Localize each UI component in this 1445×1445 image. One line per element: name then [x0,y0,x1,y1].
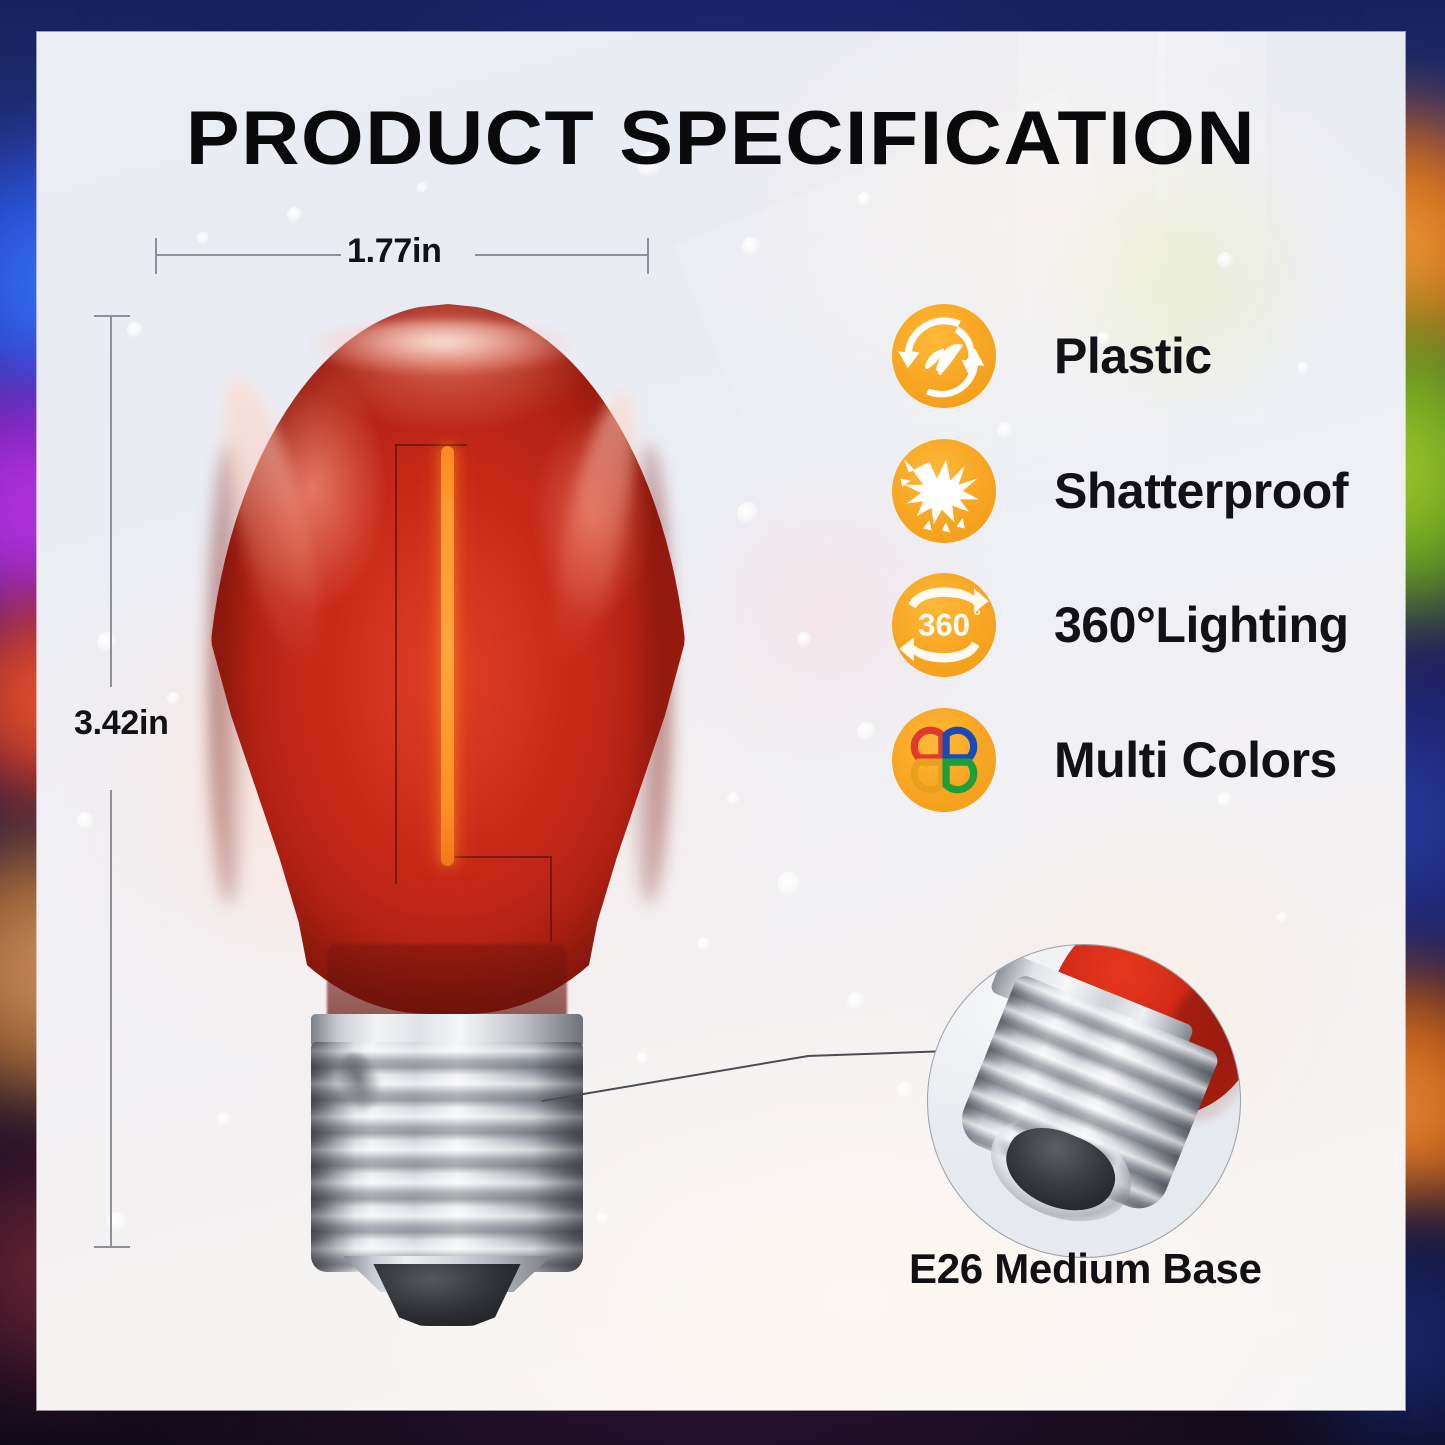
recycle-leaf-icon [892,304,996,408]
width-dim-line-right [475,254,649,256]
product-specification-image: PRODUCT SPECIFICATION 1.77in 3.42in [0,0,1445,1445]
width-dim-cap-right [647,238,649,274]
bokeh-dot [737,502,759,524]
product-card: PRODUCT SPECIFICATION 1.77in 3.42in [37,32,1405,1410]
bokeh-dot [857,192,871,206]
base-insulator-tip [367,1264,527,1326]
bokeh-dot [77,812,94,829]
bokeh-dot [742,237,760,255]
bokeh-dot [1277,912,1288,923]
multi-color-petals-icon [892,708,996,812]
filament-support-wire-right [550,856,552,942]
bokeh-dot [857,722,876,741]
bulb-edge-shadow-right [627,444,671,904]
leader-segment-2 [807,1050,939,1057]
feature-label-360-lighting: 360°Lighting [1054,596,1349,654]
bokeh-dot [897,1082,913,1098]
height-dim-cap-bottom [94,1246,130,1248]
bokeh-dot [287,207,302,222]
feature-label-shatterproof: Shatterproof [1054,462,1348,520]
height-dim-line-bottom [110,790,112,1248]
filament-support-wire-top [395,444,467,446]
callout-label-e26-medium-base: E26 Medium Base [909,1245,1259,1293]
e26-base-callout-circle [927,944,1241,1258]
width-dimension-label: 1.77in [347,232,442,271]
filament-support-wire-vertical [395,444,397,884]
feature-row-multi-colors: Multi Colors [892,708,1337,812]
height-dim-line-top [110,315,112,687]
width-dim-cap-left [155,238,157,274]
bokeh-dot [847,992,865,1010]
led-filament [441,446,454,866]
width-dim-line-left [155,254,341,256]
bokeh-dot [1297,362,1309,374]
bokeh-dot [167,692,180,705]
bokeh-dot [727,792,740,805]
page-title: PRODUCT SPECIFICATION [37,95,1405,182]
bokeh-dot [127,322,143,338]
feature-label-multi-colors: Multi Colors [1054,731,1337,789]
bokeh-dot [997,422,1013,438]
bokeh-dot [1217,252,1234,269]
filament-support-wire-bottom [442,856,552,858]
bulb-top-gloss [307,320,577,374]
feature-row-shatterproof: Shatterproof [892,439,1348,543]
feature-row-plastic: Plastic [892,304,1212,408]
360-rotation-icon: 360 ° [892,573,996,677]
height-dimension-label: 3.42in [74,704,169,743]
bokeh-dot [417,182,428,193]
bokeh-dot [97,632,117,652]
feature-label-plastic: Plastic [1054,327,1212,385]
svg-text:°: ° [974,606,981,626]
bokeh-dot [797,632,812,647]
svg-text:360: 360 [918,607,970,642]
bokeh-dot [197,232,209,244]
shatter-burst-icon [892,439,996,543]
feature-row-360-lighting: 360 ° 360°Lighting [892,573,1349,677]
bokeh-dot [777,872,801,896]
height-dim-cap-top [94,315,130,317]
product-bulb-image [187,304,707,1304]
